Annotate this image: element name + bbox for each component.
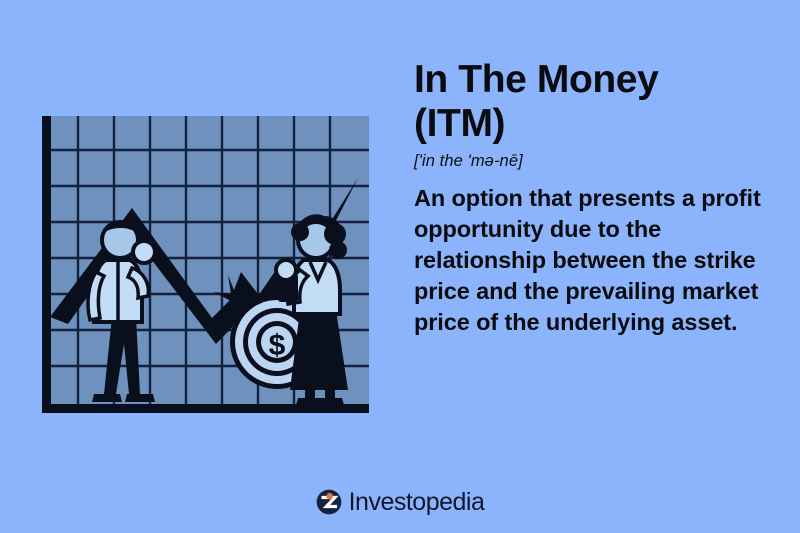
brand-logo: Investopedia	[0, 489, 800, 515]
pronunciation-text: ['in the 'mə-nē]	[414, 152, 786, 171]
investopedia-circle-z-icon	[316, 489, 342, 515]
illustration-stock-chart: $	[28, 112, 376, 417]
x-axis	[42, 404, 369, 413]
y-axis	[42, 116, 51, 413]
infographic-card: $	[0, 0, 800, 533]
svg-text:$: $	[269, 329, 286, 362]
brand-wordmark: Investopedia	[349, 490, 485, 515]
term-text-column: In The Money (ITM) ['in the 'mə-nē] An o…	[414, 58, 786, 338]
definition-text: An option that presents a profit opportu…	[414, 183, 786, 338]
page-title: In The Money (ITM)	[414, 58, 786, 145]
